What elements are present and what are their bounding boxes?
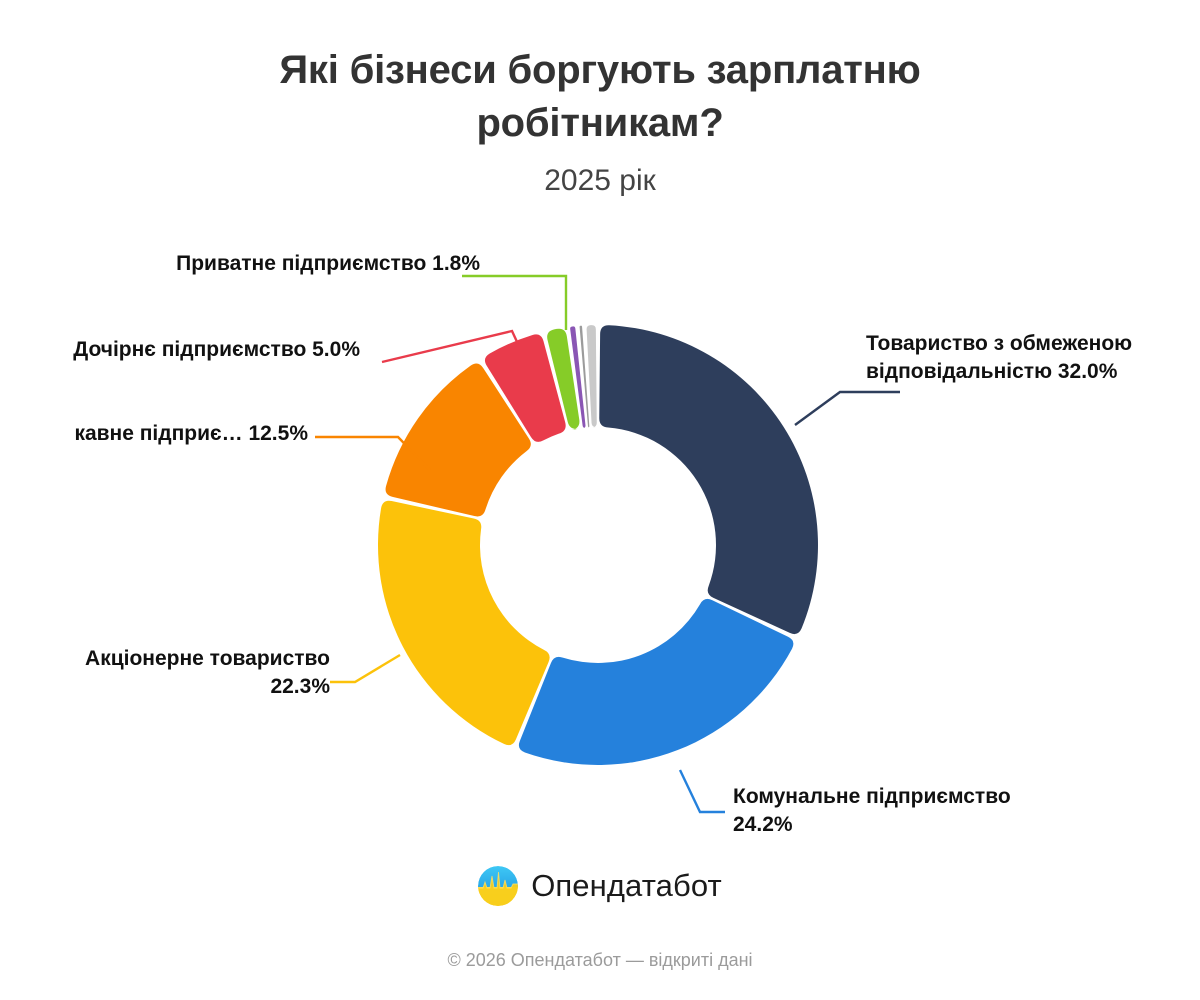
donut-slice[interactable] [570,326,585,427]
donut-slice[interactable] [547,329,579,430]
donut-slice[interactable] [386,363,531,516]
leader-line-komunalne [680,770,725,812]
donut-slice[interactable] [580,326,590,428]
slice-label-derzhavne: кавне підприє… 12.5% [0,420,308,448]
slice-label-privatne: Приватне підприємство 1.8% [120,250,480,278]
opendatabot-globe-icon [478,866,518,906]
leader-line-privatne [462,276,566,330]
leader-line-akcionerne [330,655,400,682]
leader-line-dochirne [382,331,518,362]
donut-slice[interactable] [519,599,794,765]
leader-line-derzhavne [315,437,430,470]
page-title: Які бізнеси боргують зарплатню робітника… [190,44,1010,150]
title-block: Які бізнеси боргують зарплатню робітника… [0,44,1200,198]
leader-line-tov [795,392,900,425]
copyright-text: © 2026 Опендатабот — відкриті дані [0,950,1200,971]
brand-block: Опендатабот [0,866,1200,906]
donut-slice[interactable] [378,501,550,745]
slice-label-akcionerne: Акціонерне товариство 22.3% [20,645,330,701]
donut-chart-infographic: Які бізнеси боргують зарплатню робітника… [0,0,1200,1000]
slice-label-komunalne: Комунальне підприємство 24.2% [733,783,1033,839]
donut-slice[interactable] [485,334,566,442]
leader-line-group [315,276,900,812]
chart-subtitle: 2025 рік [0,164,1200,198]
donut-slice-group [378,325,818,765]
slice-label-dochirne: Дочірнє підприємство 5.0% [20,336,360,364]
brand-name: Опендатабот [531,868,722,904]
slice-label-tov: Товариство з обмеженою відповідальністю … [866,330,1136,386]
donut-slice[interactable] [599,325,818,634]
donut-slice[interactable] [587,325,597,427]
